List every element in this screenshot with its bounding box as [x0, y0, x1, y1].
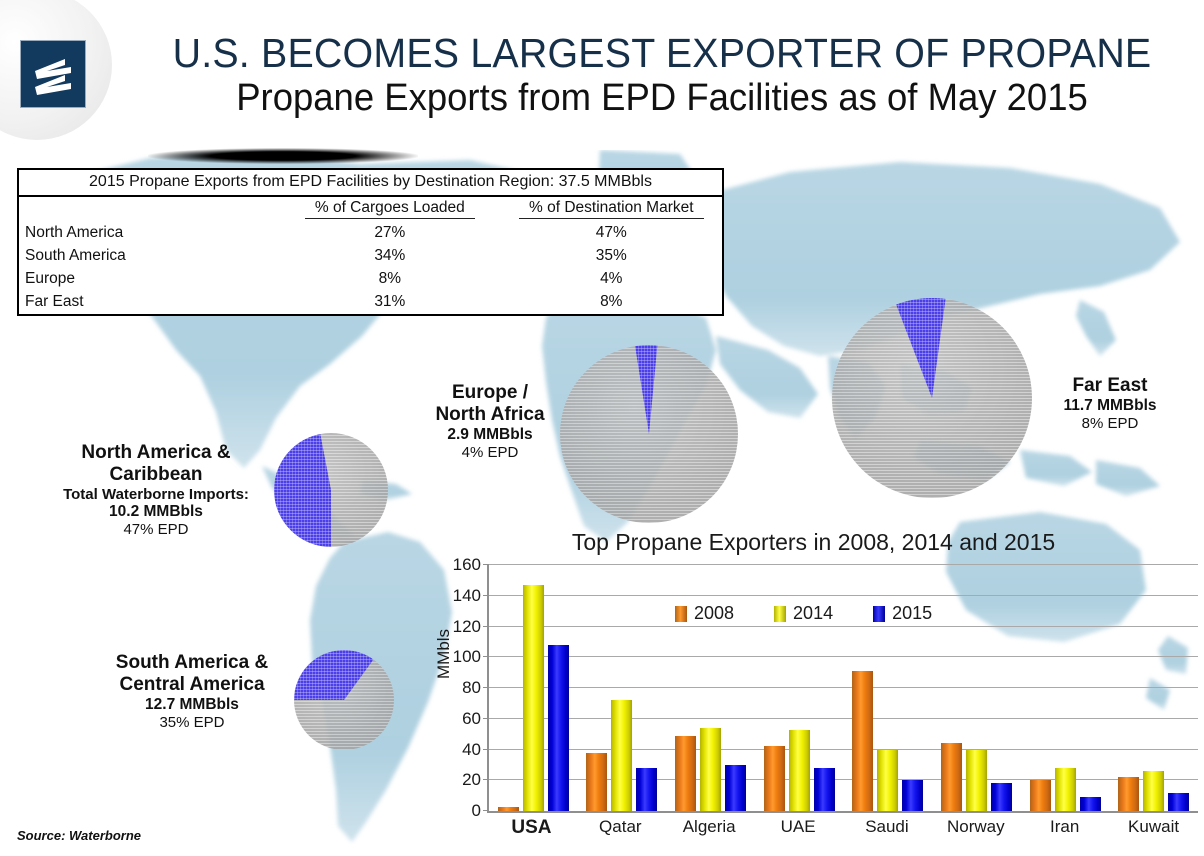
cell-region: South America	[19, 245, 279, 268]
chart-bar-2014	[966, 750, 987, 812]
cell-market: 4%	[501, 268, 722, 291]
pie-label-percent: 8% EPD	[1030, 415, 1190, 432]
pie-chart-north-america-caribbean	[274, 433, 388, 547]
cell-cargoes: 34%	[279, 245, 500, 268]
pie-label-south-america-central-america: South America & Central America 12.7 MMB…	[96, 652, 288, 731]
pie-label-value: 2.9 MMBbls	[420, 426, 560, 444]
chart-y-tick-label: 40	[462, 740, 481, 760]
pie-label-title2: Caribbean	[42, 464, 270, 486]
chart-y-axis-label: MMbls	[434, 629, 454, 679]
pie-label-percent: 4% EPD	[420, 444, 560, 461]
legend-label-2015: 2015	[892, 603, 932, 624]
chart-y-tick-label: 0	[472, 801, 481, 821]
pie-label-percent: 35% EPD	[96, 714, 288, 731]
pie-chart-south-america-central-america	[294, 650, 394, 750]
legend-item-2014: 2014	[774, 603, 833, 624]
chart-bar-2014	[1143, 771, 1164, 811]
table-header-cargoes: % of Cargoes Loaded	[279, 196, 500, 222]
pie-label-title: Far East	[1030, 375, 1190, 397]
chart-y-tick-label: 60	[462, 709, 481, 729]
cell-region: North America	[19, 222, 279, 245]
chart-x-label: Kuwait	[1109, 817, 1198, 839]
chart-bar-group	[755, 565, 844, 811]
legend-swatch-2014	[774, 606, 786, 622]
chart-x-label: Qatar	[576, 817, 665, 839]
pie-label-title: North America &	[42, 442, 270, 464]
chart-bar-2015	[991, 783, 1012, 811]
chart-y-tick-label: 80	[462, 678, 481, 698]
chart-bar-2015	[1080, 797, 1101, 811]
chart-bar-2015	[814, 768, 835, 811]
pie-label-subtitle: Total Waterborne Imports:	[42, 486, 270, 503]
chart-bar-2008	[941, 743, 962, 811]
table-header-market: % of Destination Market	[501, 196, 722, 222]
chart-x-label: Norway	[931, 817, 1020, 839]
cell-region: Far East	[19, 291, 279, 314]
slide: U.S. BECOMES LARGEST EXPORTER OF PROPANE…	[0, 0, 1204, 856]
chart-bar-2008	[764, 746, 785, 811]
chart-x-label: Iran	[1020, 817, 1109, 839]
pie-epd-slice	[274, 433, 388, 547]
chart-bar-2008	[498, 807, 519, 811]
pie-label-value: 10.2 MMBbls	[42, 503, 270, 521]
pie-label-north-america-caribbean: North America & Caribbean Total Waterbor…	[42, 442, 270, 539]
pie-label-title: South America &	[96, 652, 288, 674]
pie-epd-slice	[832, 298, 1032, 498]
chart-legend: 2008 2014 2015	[675, 603, 932, 624]
table-row: South America 34% 35%	[19, 245, 722, 268]
legend-label-2014: 2014	[793, 603, 833, 624]
table-row: North America 27% 47%	[19, 222, 722, 245]
cell-market: 8%	[501, 291, 722, 314]
table-caption-row: 2015 Propane Exports from EPD Facilities…	[19, 170, 722, 196]
cell-cargoes: 27%	[279, 222, 500, 245]
chart-y-tick-label: 140	[453, 586, 481, 606]
chart-x-label: Algeria	[665, 817, 754, 839]
pie-label-far-east: Far East 11.7 MMBbls 8% EPD	[1030, 375, 1190, 432]
chart-bar-2015	[902, 780, 923, 811]
chart-bar-2014	[877, 750, 898, 812]
legend-item-2008: 2008	[675, 603, 734, 624]
chart-x-label: UAE	[754, 817, 843, 839]
enterprise-products-logo-icon	[20, 40, 86, 108]
chart-bar-group	[932, 565, 1021, 811]
pie-chart-europe-north-africa	[560, 345, 738, 523]
chart-bar-group	[666, 565, 755, 811]
pie-label-value: 11.7 MMBbls	[1030, 397, 1190, 415]
chart-y-tick-label: 20	[462, 770, 481, 790]
chart-bar-group	[1109, 565, 1198, 811]
table-caption: 2015 Propane Exports from EPD Facilities…	[19, 170, 722, 196]
legend-swatch-2008	[675, 606, 687, 622]
pie-chart-far-east	[832, 298, 1032, 498]
chart-bar-2014	[789, 730, 810, 811]
chart-bar-group	[578, 565, 667, 811]
pie-label-percent: 47% EPD	[42, 521, 270, 538]
legend-label-2008: 2008	[694, 603, 734, 624]
cell-market: 35%	[501, 245, 722, 268]
pie-epd-slice	[560, 345, 738, 523]
chart-bar-2008	[852, 671, 873, 811]
chart-bar-2014	[611, 700, 632, 811]
chart-bar-group	[844, 565, 933, 811]
chart-x-label: USA	[487, 817, 576, 839]
chart-y-tick-label: 160	[453, 555, 481, 575]
chart-bar-2014	[1055, 768, 1076, 811]
chart-title: Top Propane Exporters in 2008, 2014 and …	[429, 529, 1198, 556]
table-header-region	[19, 196, 279, 222]
chart-bar-2008	[586, 753, 607, 811]
pie-label-europe-north-africa: Europe / North Africa 2.9 MMBbls 4% EPD	[420, 382, 560, 461]
chart-bar-2015	[636, 768, 657, 811]
pie-label-value: 12.7 MMBbls	[96, 696, 288, 714]
table-header-row: % of Cargoes Loaded % of Destination Mar…	[19, 196, 722, 222]
pie-label-title2: Central America	[96, 674, 288, 696]
cell-cargoes: 31%	[279, 291, 500, 314]
pie-label-title: Europe /	[420, 382, 560, 404]
source-note: Source: Waterborne	[17, 828, 141, 843]
table-row: Far East 31% 8%	[19, 291, 722, 314]
chart-x-axis-labels: USAQatarAlgeriaUAESaudiNorwayIranKuwait	[487, 817, 1198, 839]
chart-bar-2008	[1118, 777, 1139, 811]
chart-bar-2008	[1030, 780, 1051, 811]
chart-bar-2015	[1168, 793, 1189, 811]
cell-cargoes: 8%	[279, 268, 500, 291]
table-row: Europe 8% 4%	[19, 268, 722, 291]
title-underline-ornament	[148, 148, 418, 164]
pie-label-title2: North Africa	[420, 404, 560, 426]
destination-region-table: 2015 Propane Exports from EPD Facilities…	[17, 168, 724, 316]
chart-x-label: Saudi	[843, 817, 932, 839]
chart-bar-group	[489, 565, 578, 811]
pie-epd-slice	[294, 650, 394, 750]
chart-bar-2014	[700, 728, 721, 811]
chart-bar-groups	[489, 565, 1198, 811]
chart-bar-2015	[725, 765, 746, 811]
chart-bar-group	[1021, 565, 1110, 811]
title-line-2: Propane Exports from EPD Facilities as o…	[151, 76, 1172, 120]
chart-bar-2015	[548, 645, 569, 811]
chart-y-tick-label: 120	[453, 617, 481, 637]
chart-bar-2014	[523, 585, 544, 811]
legend-item-2015: 2015	[873, 603, 932, 624]
chart-bar-2008	[675, 736, 696, 811]
chart-y-tick-label: 100	[453, 647, 481, 667]
page-title: U.S. BECOMES LARGEST EXPORTER OF PROPANE…	[130, 30, 1194, 120]
cell-region: Europe	[19, 268, 279, 291]
legend-swatch-2015	[873, 606, 885, 622]
bar-chart-top-propane-exporters: Top Propane Exporters in 2008, 2014 and …	[429, 529, 1198, 851]
title-line-1: U.S. BECOMES LARGEST EXPORTER OF PROPANE	[151, 30, 1172, 76]
cell-market: 47%	[501, 222, 722, 245]
